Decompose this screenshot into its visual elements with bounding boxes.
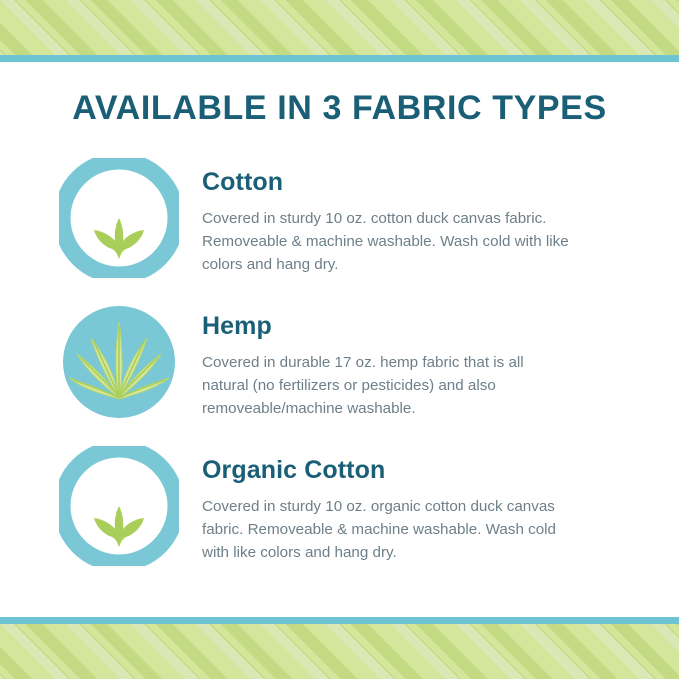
fabric-row-organic-cotton: Organic Cotton Covered in sturdy 10 oz. …: [0, 445, 679, 567]
fabric-row-cotton: Cotton Covered in sturdy 10 oz. cotton d…: [0, 157, 679, 279]
fabric-types-infographic: AVAILABLE IN 3 FABRIC TYPES Cotton Cover…: [0, 0, 679, 679]
page-title: AVAILABLE IN 3 FABRIC TYPES: [0, 62, 679, 127]
fabric-text-organic-cotton: Organic Cotton Covered in sturdy 10 oz. …: [180, 445, 629, 564]
bottom-band-green-field: [0, 624, 679, 679]
fabric-description: Covered in sturdy 10 oz. cotton duck can…: [202, 207, 574, 276]
cotton-boll-icon: [58, 445, 180, 567]
fabric-name: Cotton: [202, 169, 629, 197]
fabric-list: Cotton Covered in sturdy 10 oz. cotton d…: [0, 157, 679, 567]
fabric-row-hemp: Hemp Covered in durable 17 oz. hemp fabr…: [0, 301, 679, 423]
cotton-boll-icon: [58, 157, 180, 279]
hemp-leaf-icon: [58, 301, 180, 423]
top-band-green-field: [0, 0, 679, 55]
fabric-name: Hemp: [202, 313, 629, 341]
fabric-description: Covered in durable 17 oz. hemp fabric th…: [202, 351, 574, 420]
fabric-description: Covered in sturdy 10 oz. organic cotton …: [202, 495, 574, 564]
main-content: AVAILABLE IN 3 FABRIC TYPES Cotton Cover…: [0, 62, 679, 617]
bottom-band-stripe-pattern: [0, 624, 679, 679]
top-band-teal-rule: [0, 55, 679, 62]
fabric-text-cotton: Cotton Covered in sturdy 10 oz. cotton d…: [180, 157, 629, 276]
fabric-text-hemp: Hemp Covered in durable 17 oz. hemp fabr…: [180, 301, 629, 420]
bottom-decorative-band: [0, 617, 679, 679]
top-decorative-band: [0, 0, 679, 62]
bottom-band-teal-rule: [0, 617, 679, 624]
top-band-stripe-pattern: [0, 0, 679, 55]
fabric-name: Organic Cotton: [202, 457, 629, 485]
